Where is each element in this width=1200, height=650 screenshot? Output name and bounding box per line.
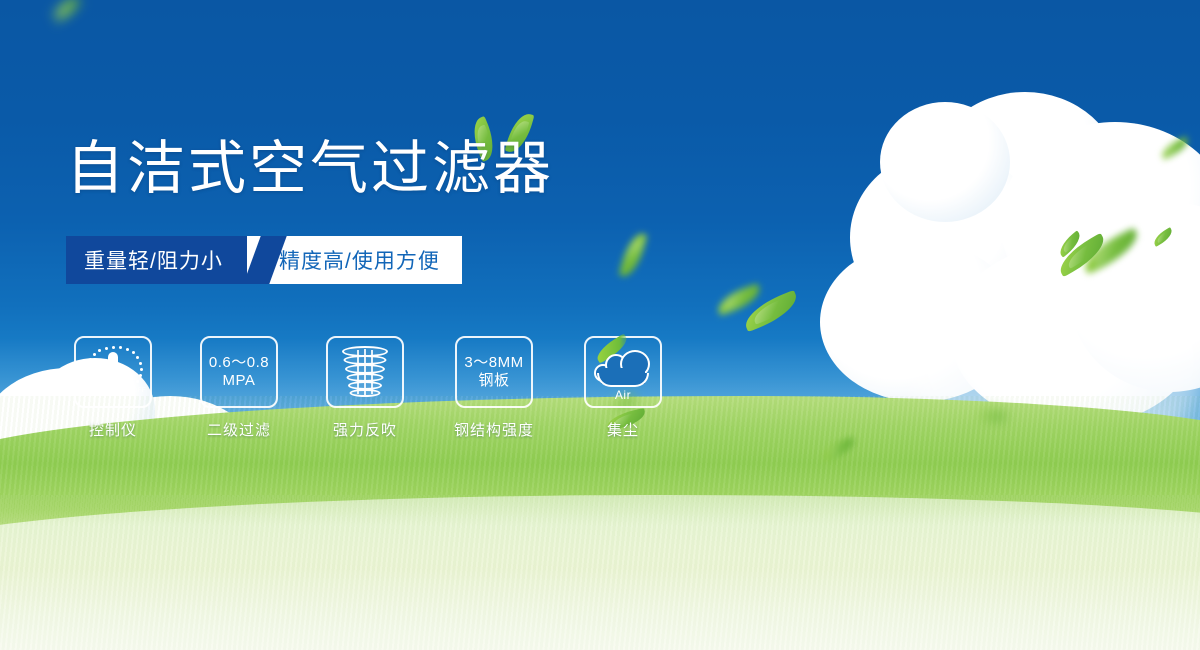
gauge-off-label: OFF (133, 388, 146, 394)
feature-icon-box: 3～8MM 钢板 (455, 336, 533, 408)
feature-item-controller[interactable]: NO OFF 控制仪 (74, 336, 152, 440)
feature-item-steel[interactable]: 3～8MM 钢板 钢结构强度 (452, 336, 536, 440)
feature-icon-box: 0.6～0.8 MPA (200, 336, 278, 408)
subtitle-bar: 重量轻/阻力小 精度高/使用方便 (66, 236, 462, 284)
pressure-text-icon: 0.6～0.8 MPA (209, 354, 269, 389)
product-hero-banner: 自洁式空气过滤器 重量轻/阻力小 精度高/使用方便 (0, 0, 1200, 650)
feature-item-blowback[interactable]: 强力反吹 (326, 336, 404, 440)
air-cloud-icon: Air (592, 346, 654, 398)
steel-plate-text-icon: 3～8MM 钢板 (464, 354, 523, 389)
feature-label: 钢结构强度 (454, 419, 534, 440)
filter-coil-icon (341, 346, 389, 398)
feature-icon-box (326, 336, 404, 408)
pressure-value: 0.6～0.8 (209, 354, 269, 371)
feature-label: 集尘 (607, 419, 639, 440)
pressure-unit: MPA (209, 372, 269, 390)
feature-icon-box: Air (584, 336, 662, 408)
gauge-dial-icon: NO OFF (83, 344, 143, 400)
feature-icon-box: NO OFF (74, 336, 152, 408)
subtitle-left-segment: 重量轻/阻力小 (66, 236, 247, 284)
steel-thickness: 3～8MM (464, 354, 523, 371)
air-label: Air (592, 388, 654, 402)
feature-label: 控制仪 (89, 419, 137, 440)
gauge-needle (108, 352, 118, 390)
page-title: 自洁式空气过滤器 (66, 140, 554, 198)
gauge-on-label: NO (82, 367, 92, 373)
feature-label: 二级过滤 (207, 419, 271, 440)
steel-material: 钢板 (464, 372, 523, 390)
grass-light-glow (0, 530, 1200, 650)
feature-list: NO OFF 控制仪 0.6～0.8 MPA 二级过滤 (74, 336, 662, 440)
feature-item-dust[interactable]: Air 集尘 (584, 336, 662, 440)
feature-item-pressure[interactable]: 0.6～0.8 MPA 二级过滤 (200, 336, 278, 440)
feature-label: 强力反吹 (333, 419, 397, 440)
